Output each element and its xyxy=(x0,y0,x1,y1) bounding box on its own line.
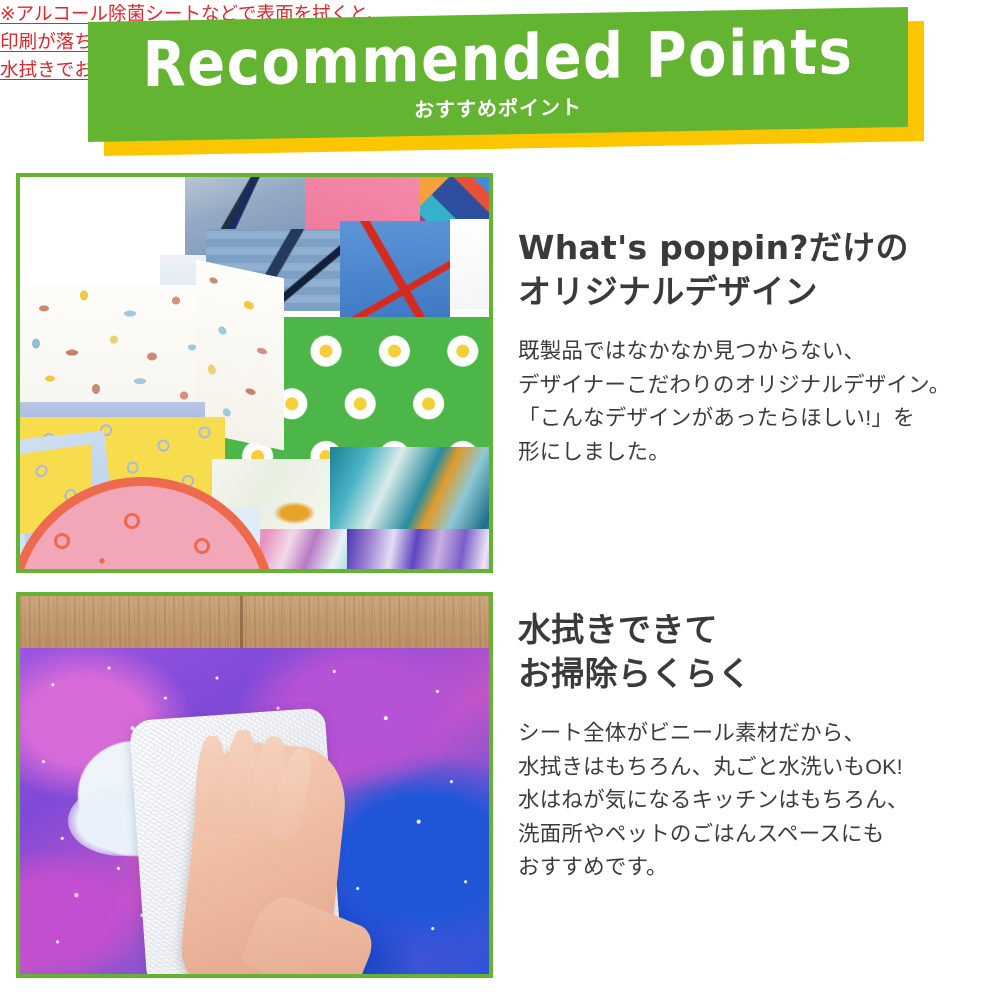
terrazzo-swatch xyxy=(20,285,220,415)
white-swatch xyxy=(450,219,489,309)
section-2-text: 水拭きできて お掃除らくらく シート全体がビニール素材だから、 水拭きはもちろん… xyxy=(518,608,909,885)
section-1-heading: What's poppin?だけの オリジナルデザイン xyxy=(518,226,950,313)
wood-floor xyxy=(20,596,489,648)
wipe-demo-photo xyxy=(16,592,493,978)
banner-text-group: Recommended Points おすすめポイント xyxy=(88,7,908,142)
design-collage-photo xyxy=(16,173,493,573)
wipe-demo-inner xyxy=(20,596,489,974)
section-1-body: 既製品ではなかなか見つからない、 デザイナーこだわりのオリジナルデザイン。 「こ… xyxy=(518,335,950,469)
design-collage-inner xyxy=(20,177,489,569)
wood-plank-seam xyxy=(240,596,243,648)
graffiti-swatch-red-line xyxy=(340,221,450,317)
section-2-body: シート全体がビニール素材だから、 水拭きはもちろん、丸ごと水洗いもOK! 水はね… xyxy=(518,717,909,885)
page-subtitle: おすすめポイント xyxy=(414,98,582,121)
marble-swatch-purple xyxy=(347,529,489,569)
page-title: Recommended Points xyxy=(143,22,854,98)
header-banner: Recommended Points おすすめポイント xyxy=(0,0,1000,175)
promo-page: Recommended Points おすすめポイント xyxy=(0,0,1000,1000)
section-1-text: What's poppin?だけの オリジナルデザイン 既製品ではなかなか見つか… xyxy=(518,226,950,469)
section-2-heading: 水拭きできて お掃除らくらく xyxy=(518,608,909,695)
